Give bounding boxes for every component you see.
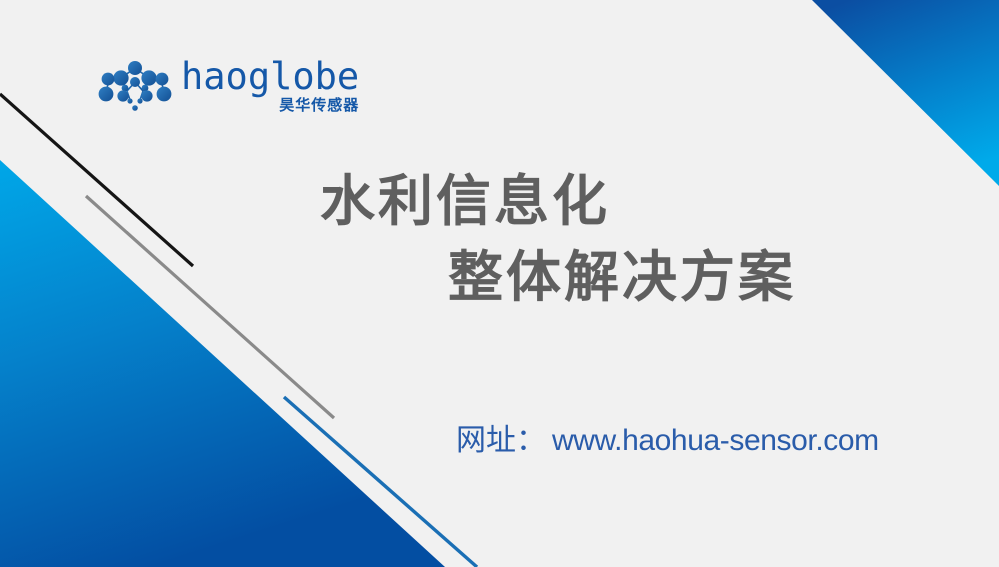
company-logo: haoglobe 昊华传感器 [97,58,359,114]
logo-wordmark-group: haoglobe 昊华传感器 [181,58,359,114]
website-line: 网址： www.haohua-sensor.com [456,422,879,460]
presentation-slide: haoglobe 昊华传感器 水利信息化 整体解决方案 网址： www.haoh… [0,0,999,567]
logo-chinese-name: 昊华传感器 [279,98,359,114]
website-url[interactable]: www.haohua-sensor.com [552,422,879,460]
network-nodes-icon [97,58,173,112]
logo-wordmark-text: haoglobe [181,58,359,95]
website-label: 网址： [456,422,546,460]
